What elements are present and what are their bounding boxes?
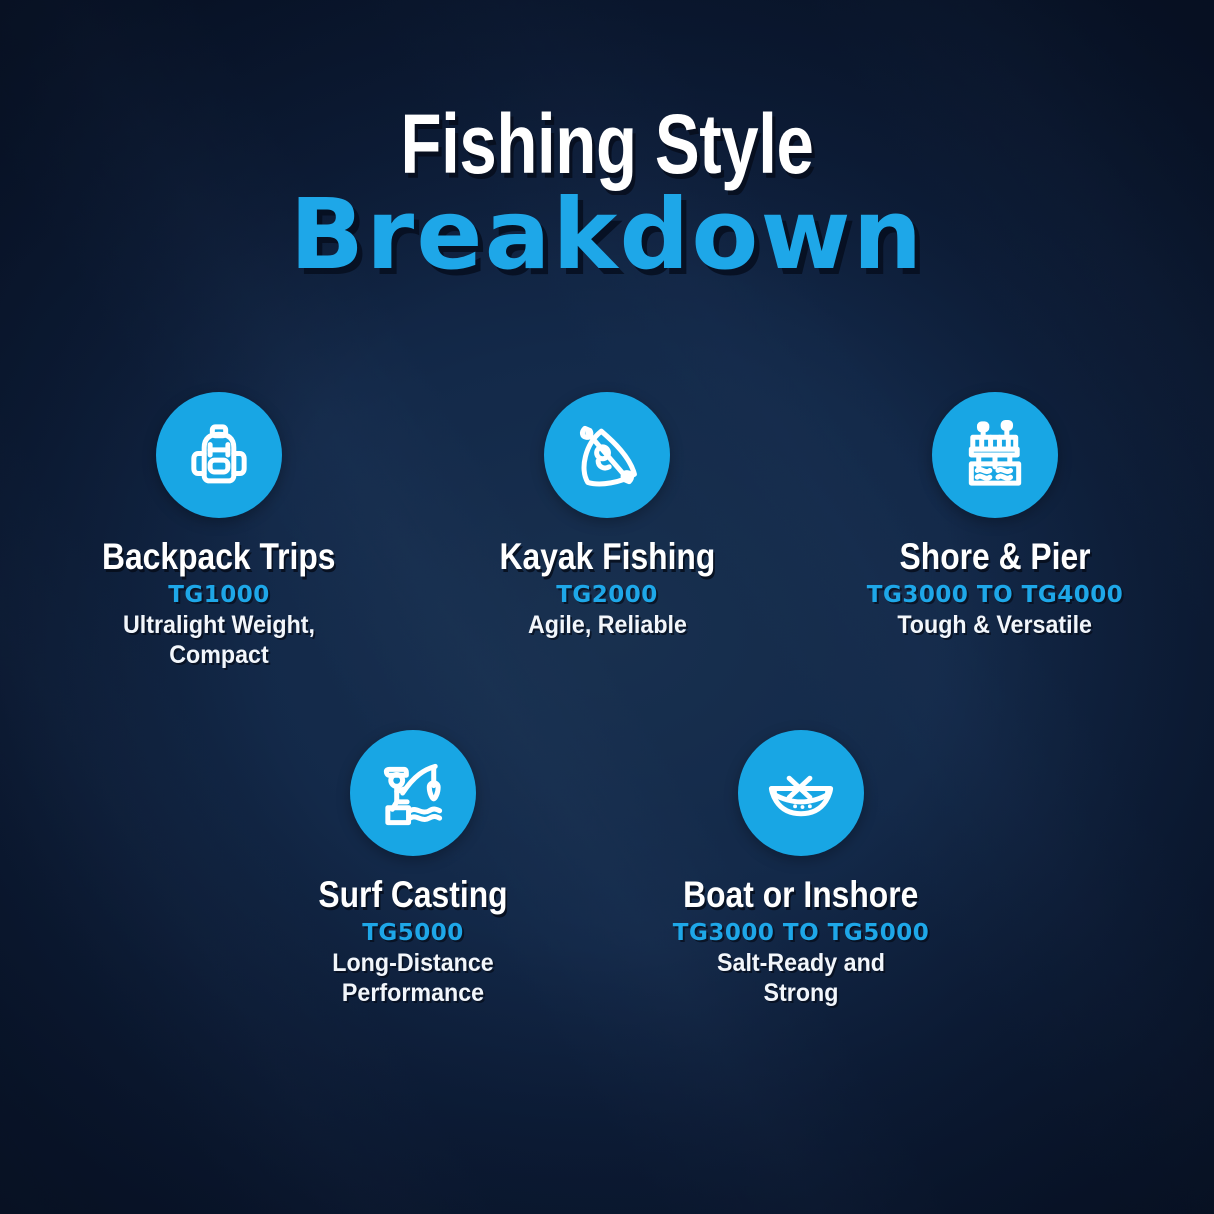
- infographic-poster: Fishing Style Breakdown Backpack Trips T…: [0, 0, 1214, 1214]
- backpack-icon: [182, 418, 256, 492]
- card-description: Long-Distance Performance: [296, 949, 530, 1008]
- card-surf-casting[interactable]: Surf Casting TG5000 Long-Distance Perfor…: [287, 730, 539, 1008]
- card-model-code: TG3000 TO TG4000: [867, 583, 1123, 608]
- rowboat-icon: [764, 756, 838, 830]
- card-backpack-trips[interactable]: Backpack Trips TG1000 Ultralight Weight,…: [93, 392, 345, 670]
- kayak-icon: [570, 418, 644, 492]
- card-model-code: TG5000: [362, 921, 464, 946]
- card-row-bottom: Surf Casting TG5000 Long-Distance Perfor…: [0, 730, 1214, 1008]
- icon-badge: [156, 392, 282, 518]
- card-model-code: TG1000: [168, 583, 270, 608]
- page-title-line1: Fishing Style: [121, 104, 1092, 185]
- card-model-code: TG2000: [556, 583, 658, 608]
- card-description: Ultralight Weight, Compact: [102, 611, 336, 670]
- pier-icon: [958, 418, 1032, 492]
- card-title: Backpack Trips: [102, 538, 335, 577]
- card-title: Shore & Pier: [899, 538, 1090, 577]
- card-description: Salt-Ready and Strong: [684, 949, 918, 1008]
- page-title-line2: Breakdown: [0, 186, 1214, 284]
- card-kayak-fishing[interactable]: Kayak Fishing TG2000 Agile, Reliable: [481, 392, 733, 670]
- icon-badge: [932, 392, 1058, 518]
- card-description: Tough & Versatile: [898, 611, 1093, 641]
- card-title: Boat or Inshore: [683, 876, 918, 915]
- icon-badge: [544, 392, 670, 518]
- card-row-top: Backpack Trips TG1000 Ultralight Weight,…: [0, 392, 1214, 670]
- icon-badge: [738, 730, 864, 856]
- card-boat-or-inshore[interactable]: Boat or Inshore TG3000 TO TG5000 Salt-Re…: [675, 730, 927, 1008]
- poster-header: Fishing Style Breakdown: [0, 104, 1214, 281]
- card-model-code: TG3000 TO TG5000: [673, 921, 929, 946]
- card-title: Kayak Fishing: [499, 538, 715, 577]
- card-description: Agile, Reliable: [528, 611, 687, 641]
- card-shore-and-pier[interactable]: Shore & Pier TG3000 TO TG4000 Tough & Ve…: [869, 392, 1121, 670]
- card-title: Surf Casting: [318, 876, 507, 915]
- icon-badge: [350, 730, 476, 856]
- angler-casting-icon: [376, 756, 450, 830]
